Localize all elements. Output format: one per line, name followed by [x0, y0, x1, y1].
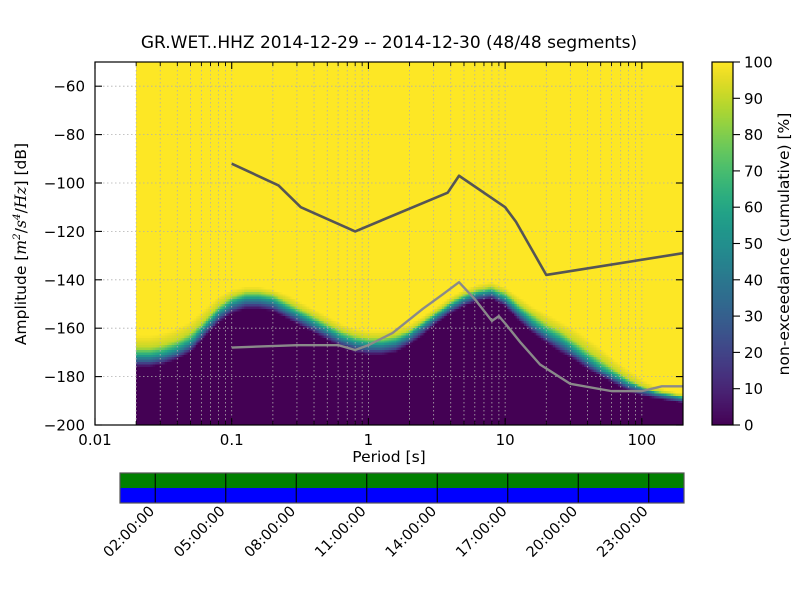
x-tick-label: 0.1 [220, 431, 244, 449]
x-tick-label: 1 [364, 431, 374, 449]
y-axis-title-suffix: ] [dB] [12, 143, 30, 187]
colorbar-tick-label: 50 [744, 235, 763, 253]
y-tick-label: −100 [44, 175, 85, 193]
timeline-blue-band[interactable] [120, 488, 684, 503]
main-axes: 0.010.1110100 −200−180−160−140−120−100−8… [44, 62, 683, 449]
colorbar-tick-label: 40 [744, 271, 763, 289]
y-axis-title-den: s [12, 220, 30, 228]
colorbar-tick-label: 0 [744, 417, 754, 435]
ppsd-figure-canvas: GR.WET..HHZ 2014-12-29 -- 2014-12-30 (48… [0, 0, 800, 600]
y-axis-title-hz: Hz [12, 186, 30, 210]
y-tick-label: −160 [44, 320, 85, 338]
y-axis-title-prefix: Amplitude [ [12, 255, 30, 345]
colorbar-tick-label: 80 [744, 126, 763, 144]
colorbar-tick-label: 10 [744, 380, 763, 398]
colorbar-tick-label: 20 [744, 344, 763, 362]
y-axis-title-den-exp: 4 [11, 213, 23, 221]
y-axis-title-num: m [12, 240, 30, 255]
y-tick-label: −200 [44, 417, 85, 435]
y-tick-label: −120 [44, 223, 85, 241]
x-tick-label: 10 [496, 431, 515, 449]
ppsd-figure: GR.WET..HHZ 2014-12-29 -- 2014-12-30 (48… [0, 0, 800, 600]
y-tick-label: −80 [53, 126, 85, 144]
x-tick-label: 100 [628, 431, 657, 449]
colorbar-title: non-exceedance (cumulative) [%] [775, 113, 793, 376]
colorbar-tick-label: 70 [744, 162, 763, 180]
colorbar-tick-label: 30 [744, 308, 763, 326]
page-title: GR.WET..HHZ 2014-12-29 -- 2014-12-30 (48… [141, 33, 637, 53]
colorbar-tick-label: 60 [744, 199, 763, 217]
y-tick-label: −140 [44, 271, 85, 289]
x-axis-title: Period [s] [352, 448, 425, 466]
y-tick-label: −180 [44, 368, 85, 386]
colorbar-tick-label: 90 [744, 90, 763, 108]
colorbar-tick-label: 100 [744, 54, 773, 72]
y-tick-label: −60 [53, 78, 85, 96]
timeline-green-band[interactable] [120, 473, 684, 488]
colorbar-gradient [712, 62, 733, 426]
y-axis-title: Amplitude [m2/s4/Hz] [dB] [11, 143, 30, 345]
